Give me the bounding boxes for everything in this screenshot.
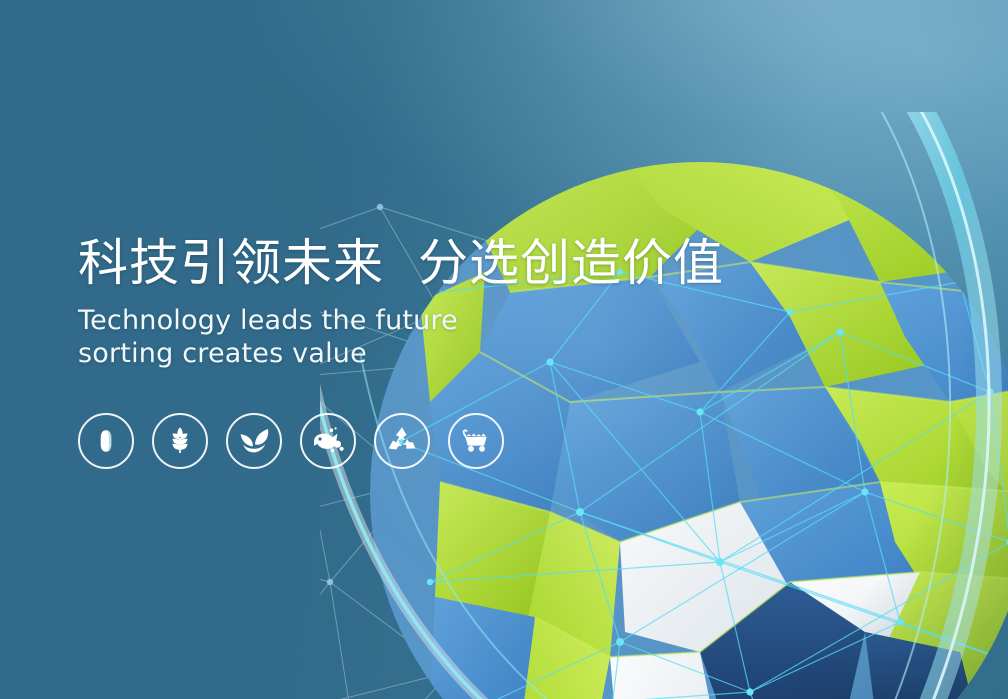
fish-icon[interactable] [300, 413, 356, 469]
rice-grain-icon[interactable] [78, 413, 134, 469]
hero-text-block: 科技引领未来分选创造价值 Technology leads the future… [78, 236, 778, 371]
industry-icon-row [78, 413, 504, 469]
recycle-icon[interactable] [374, 413, 430, 469]
subtitle-line-1: Technology leads the future [78, 304, 778, 337]
hero-banner: 科技引领未来分选创造价值 Technology leads the future… [0, 0, 1008, 699]
recycle-glyph [387, 426, 417, 456]
headline-primary: 科技引领未来 [78, 234, 384, 292]
headline-secondary: 分选创造价值 [418, 234, 724, 292]
headline: 科技引领未来分选创造价值 [78, 236, 778, 290]
wheat-icon[interactable] [152, 413, 208, 469]
tea-leaf-icon[interactable] [226, 413, 282, 469]
mine-cart-icon[interactable] [448, 413, 504, 469]
tea-leaf-glyph [237, 426, 271, 456]
subtitle: Technology leads the future sorting crea… [78, 304, 778, 371]
subtitle-line-2: sorting creates value [78, 337, 778, 370]
wheat-glyph [164, 425, 196, 457]
fish-glyph [311, 427, 345, 455]
mine-cart-glyph [459, 427, 493, 455]
rice-grain-glyph [91, 426, 121, 456]
